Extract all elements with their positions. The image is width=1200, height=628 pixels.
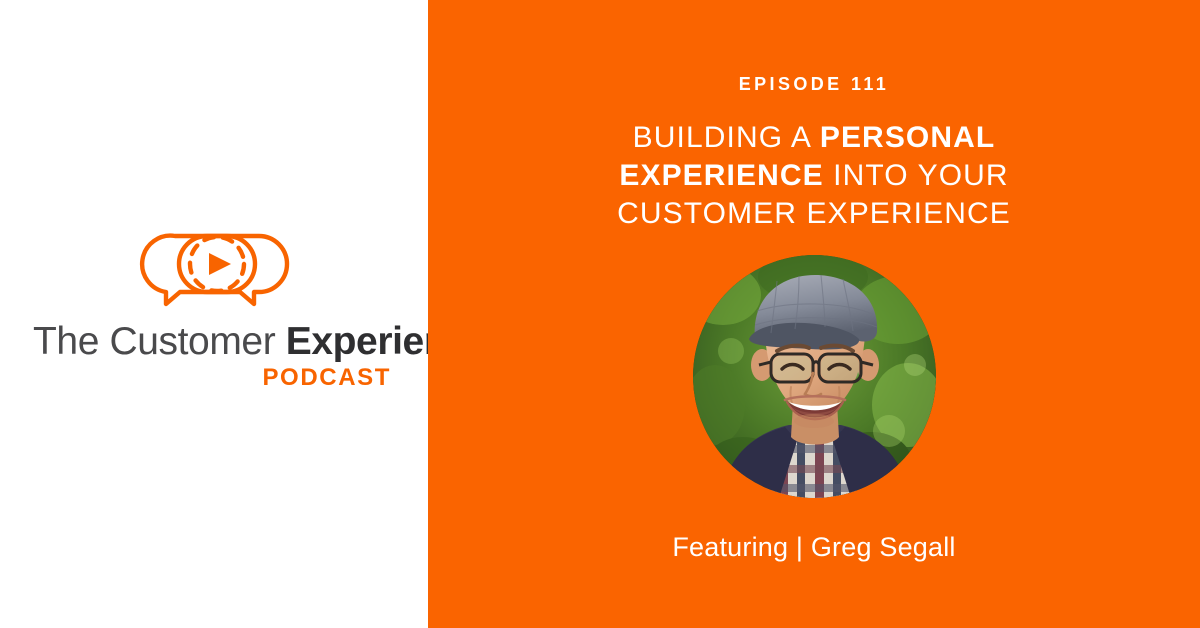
brand-wordmark: The Customer Experience <box>27 322 407 361</box>
brand-panel: The Customer Experience PODCAST <box>0 0 428 628</box>
guest-headshot-avatar <box>693 255 936 498</box>
episode-title-part-1: BUILDING A <box>633 121 820 154</box>
episode-number-label: EPISODE 111 <box>739 74 889 95</box>
speech-bubbles-play-icon <box>132 230 302 308</box>
episode-panel: EPISODE 111 BUILDING A PERSONAL EXPERIEN… <box>428 0 1200 628</box>
episode-title: BUILDING A PERSONAL EXPERIENCE INTO YOUR… <box>599 119 1029 233</box>
brand-subword: PODCAST <box>27 364 407 392</box>
podcast-episode-graphic: The Customer Experience PODCAST EPISODE … <box>0 0 1200 628</box>
brand-lockup: The Customer Experience PODCAST <box>27 230 407 392</box>
brand-wordmark-light: The Customer <box>33 320 286 363</box>
guest-caption: Featuring | Greg Segall <box>672 532 955 563</box>
